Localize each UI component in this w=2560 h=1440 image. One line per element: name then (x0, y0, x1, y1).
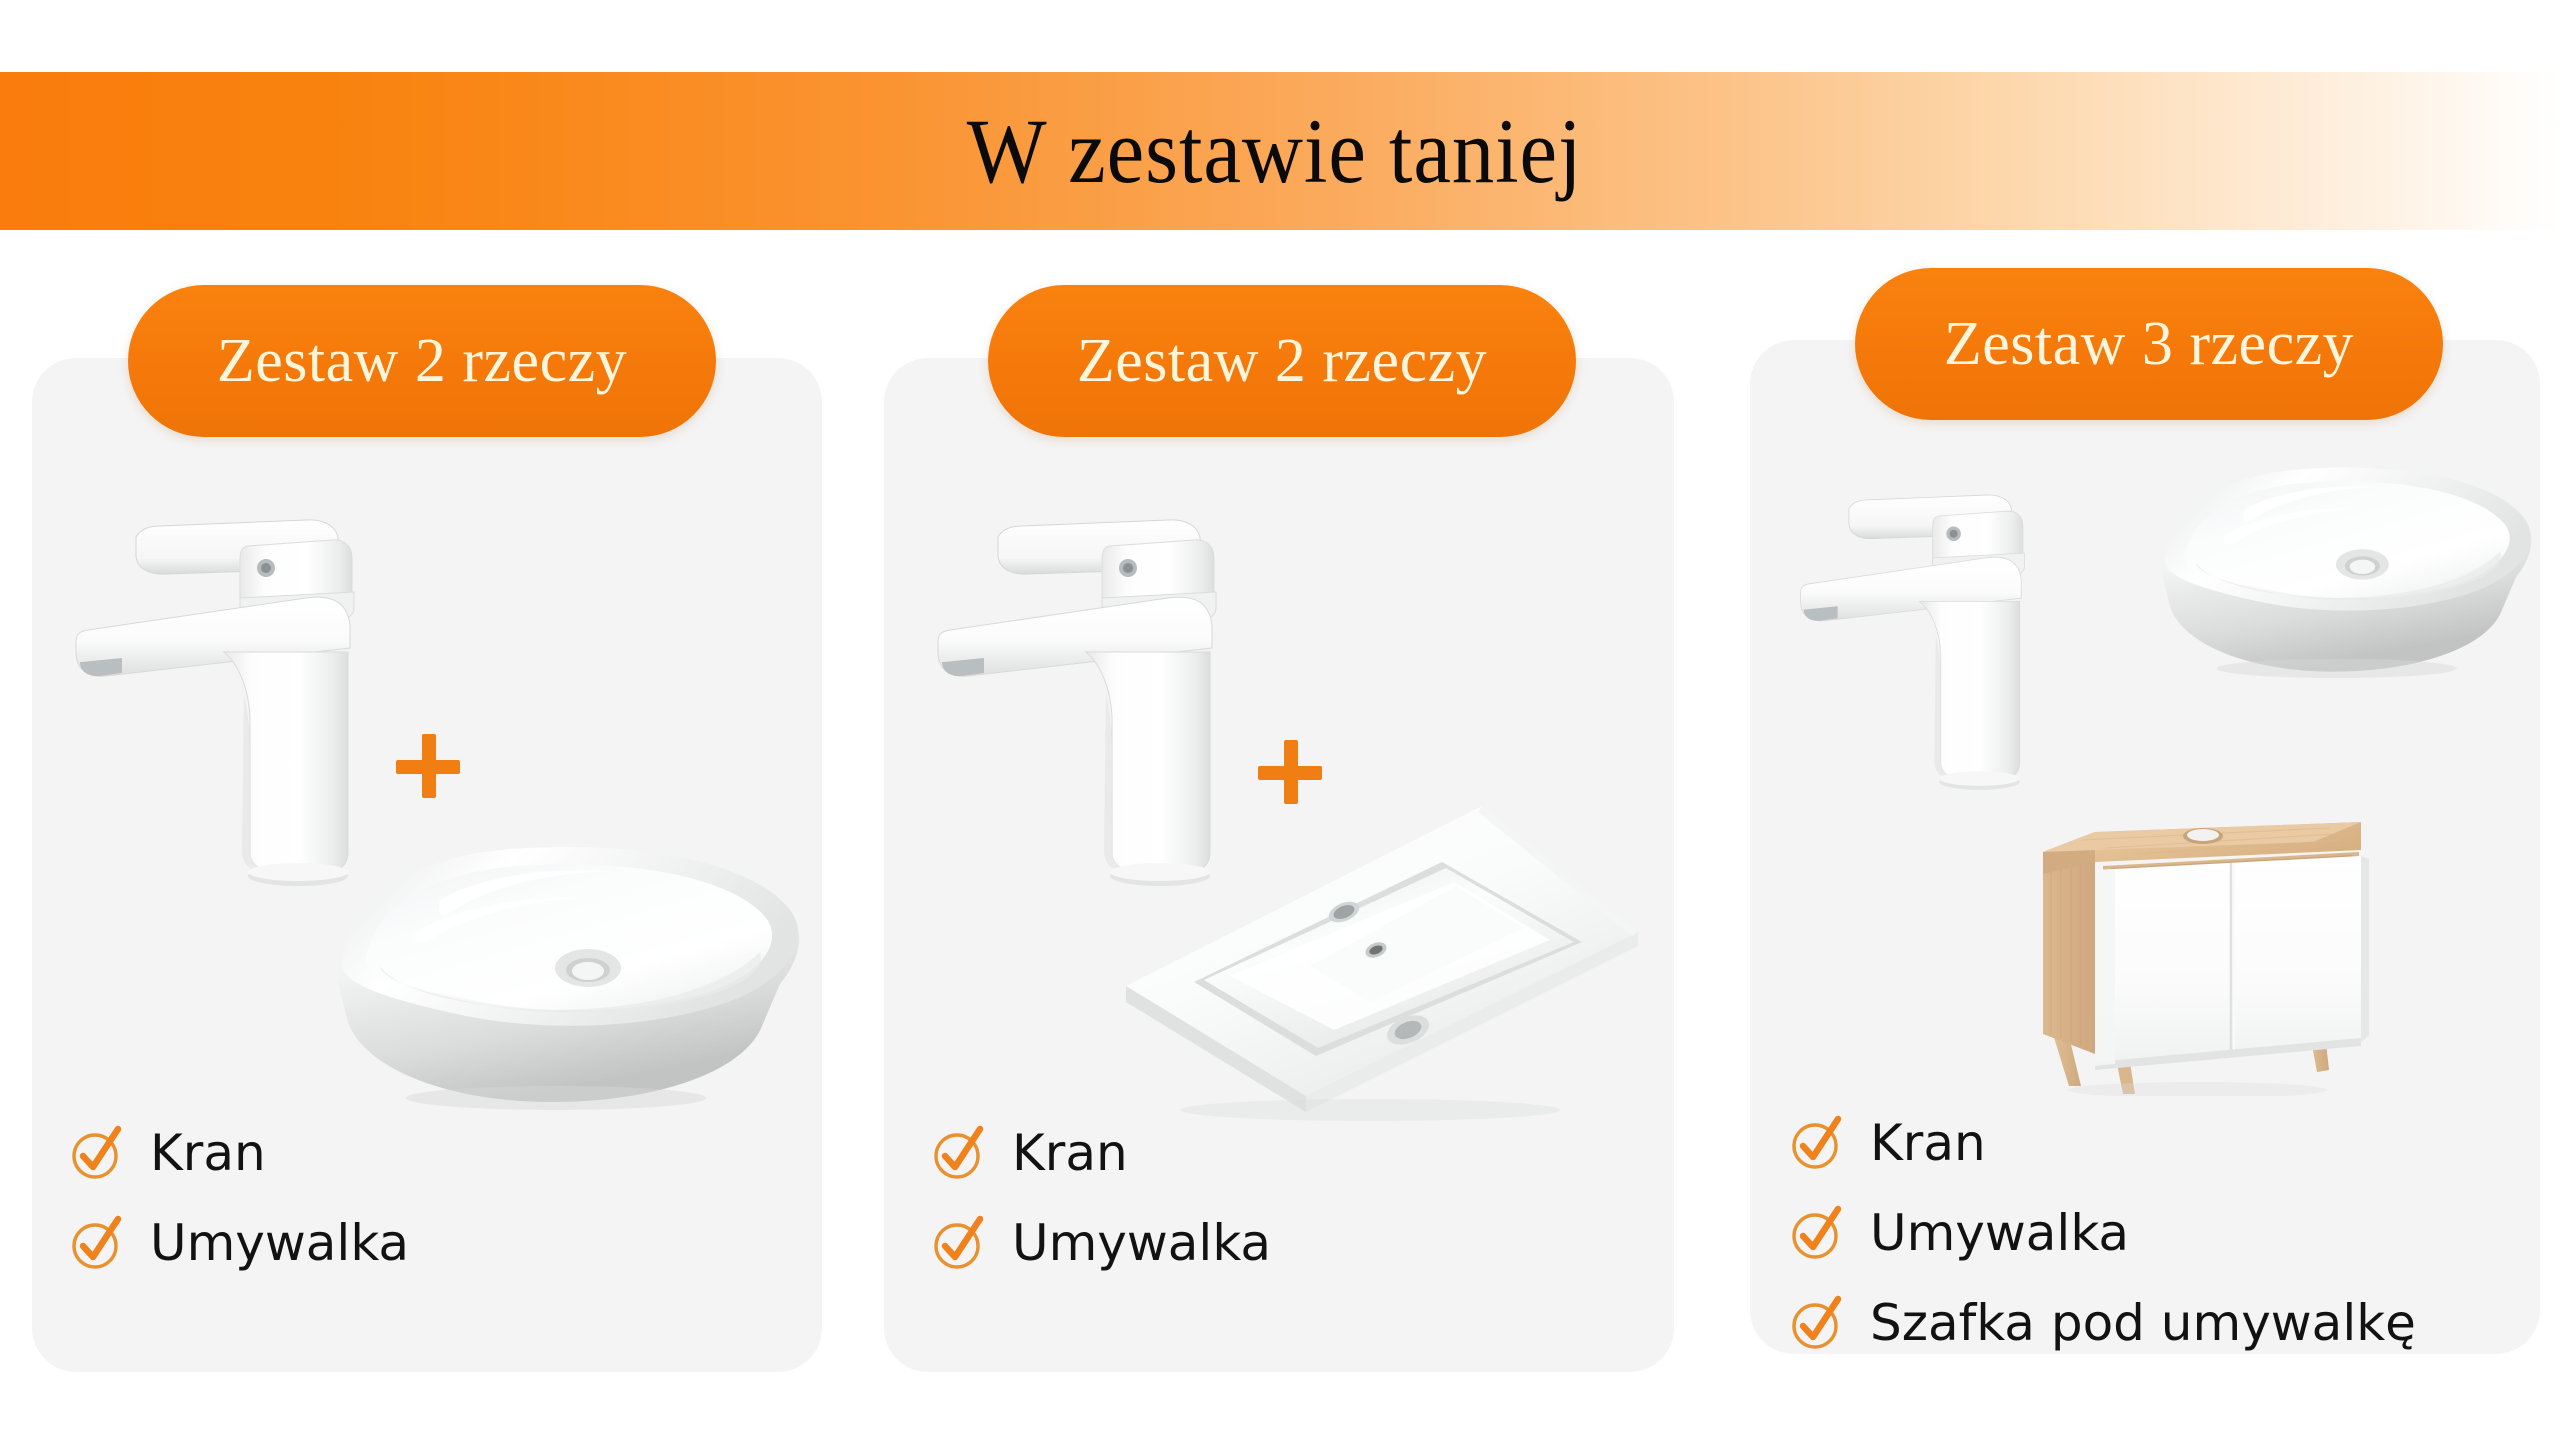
product-image-under-sink-cabinet-3 (1985, 796, 2385, 1096)
product-image-faucet-3 (1778, 462, 2068, 802)
product-image-vanity-sink-2 (1120, 790, 1660, 1130)
feature-label: Umywalka (1870, 1208, 2129, 1258)
feature-list-3: Kran Umywalka Szafka pod umywalkę (1788, 1098, 2416, 1368)
feature-label: Szafka pod umywalkę (1870, 1298, 2416, 1348)
feature-list-2: Kran Umywalka (930, 1108, 1271, 1288)
check-circle-icon (1788, 1205, 1844, 1261)
feature-label: Kran (150, 1128, 266, 1178)
bundle-badge-3[interactable]: Zestaw 3 rzeczy (1855, 268, 2443, 420)
plus-icon-2 (1258, 740, 1322, 804)
feature-list-1: Kran Umywalka (68, 1108, 409, 1288)
feature-label: Kran (1870, 1118, 1986, 1168)
feature-row: Umywalka (68, 1198, 409, 1288)
feature-row: Szafka pod umywalkę (1788, 1278, 2416, 1368)
check-circle-icon (1788, 1295, 1844, 1351)
product-image-faucet-1 (48, 480, 408, 900)
feature-row: Kran (1788, 1098, 2416, 1188)
bundle-badge-1[interactable]: Zestaw 2 rzeczy (128, 285, 716, 437)
feature-row: Umywalka (930, 1198, 1271, 1288)
product-image-oval-basin-3 (2148, 452, 2548, 712)
bundle-badge-label: Zestaw 2 rzeczy (217, 326, 627, 397)
feature-row: Kran (68, 1108, 409, 1198)
bundle-badge-label: Zestaw 3 rzeczy (1944, 309, 2354, 380)
bundle-badge-2[interactable]: Zestaw 2 rzeczy (988, 285, 1576, 437)
check-circle-icon (930, 1215, 986, 1271)
feature-label: Kran (1012, 1128, 1128, 1178)
feature-label: Umywalka (150, 1218, 409, 1268)
product-image-oval-basin-1 (320, 840, 820, 1140)
check-circle-icon (1788, 1115, 1844, 1171)
check-circle-icon (930, 1125, 986, 1181)
feature-label: Umywalka (1012, 1218, 1271, 1268)
check-circle-icon (68, 1125, 124, 1181)
feature-row: Kran (930, 1108, 1271, 1198)
check-circle-icon (68, 1215, 124, 1271)
bundle-cards-area: Kran Umywalka (0, 0, 2560, 1440)
bundle-badge-label: Zestaw 2 rzeczy (1077, 326, 1487, 397)
plus-icon-1 (396, 734, 460, 798)
feature-row: Umywalka (1788, 1188, 2416, 1278)
